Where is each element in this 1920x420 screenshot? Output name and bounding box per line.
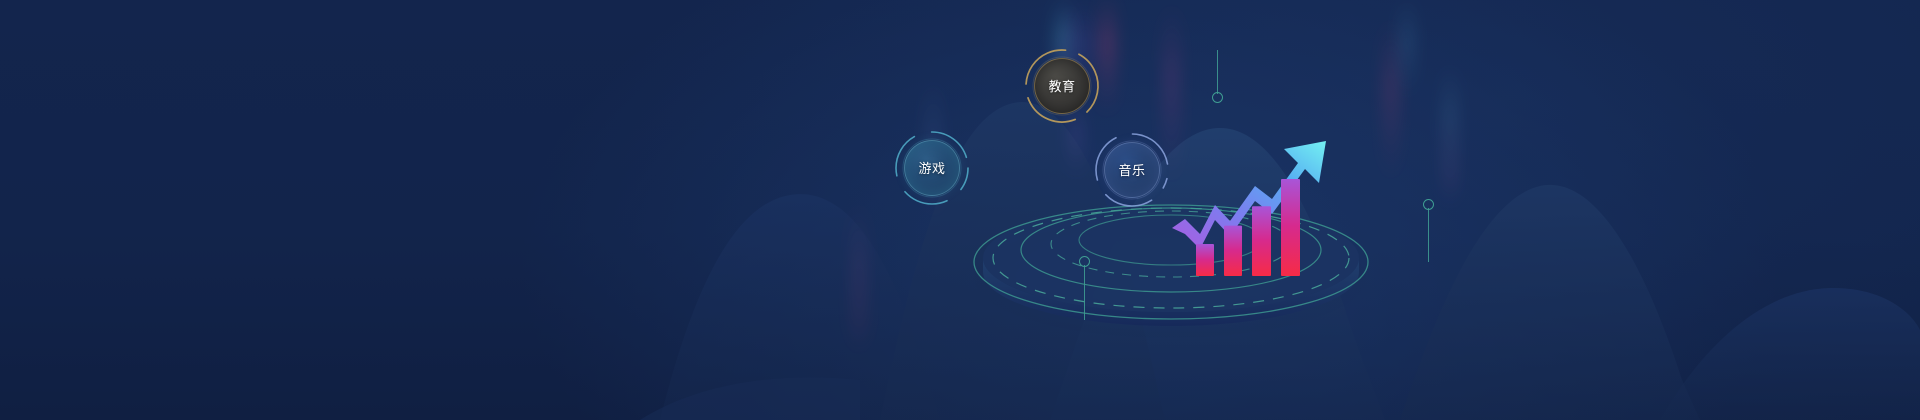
- badge-music[interactable]: 音乐: [1090, 128, 1174, 212]
- node-top-stem: [1217, 50, 1218, 94]
- badge-education[interactable]: 教育: [1020, 44, 1104, 128]
- badge-music-disc[interactable]: 音乐: [1104, 142, 1160, 198]
- badge-game-disc[interactable]: 游戏: [904, 140, 960, 196]
- node-top: [1212, 50, 1226, 110]
- illustration-canvas: 游戏 教育 音乐: [0, 0, 1920, 420]
- bar-chart-graphic: [0, 0, 1920, 420]
- chart-bar-3: [1252, 206, 1271, 276]
- badge-game[interactable]: 游戏: [890, 126, 974, 210]
- badge-education-label: 教育: [1048, 80, 1075, 93]
- node-top-dot: [1212, 92, 1223, 103]
- trend-arrow: [1172, 141, 1326, 249]
- badge-music-label: 音乐: [1118, 164, 1145, 177]
- badge-game-label: 游戏: [918, 162, 945, 175]
- badge-education-disc[interactable]: 教育: [1034, 58, 1090, 114]
- chart-bar-1: [1196, 244, 1214, 276]
- node-right: [1423, 199, 1437, 265]
- node-right-stem: [1428, 208, 1429, 262]
- node-bottom-left: [1079, 256, 1093, 322]
- chart-bar-2: [1224, 226, 1242, 276]
- scene-content: 游戏 教育 音乐: [0, 0, 1920, 420]
- chart-bar-4: [1281, 179, 1300, 276]
- node-bottom-left-stem: [1084, 265, 1085, 320]
